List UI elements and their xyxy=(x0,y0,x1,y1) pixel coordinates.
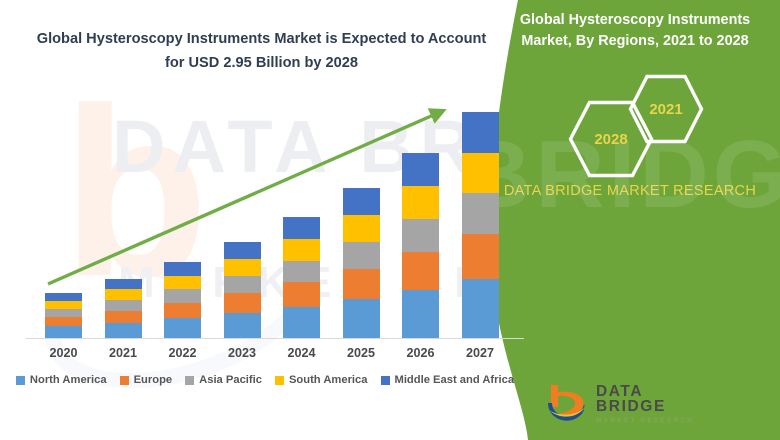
chart-legend: North AmericaEuropeAsia PacificSouth Ame… xyxy=(0,374,530,386)
legend-label: Middle East and Africa xyxy=(395,374,515,386)
logo-subtitle: MARKET RESEARCH xyxy=(596,418,705,424)
legend-swatch-icon xyxy=(120,376,129,385)
panel-title: Global Hysteroscopy Instruments Market, … xyxy=(504,10,766,52)
infographic-root: b DATA BRIDGE MARKET RESEARCH Global Hys… xyxy=(0,0,780,440)
logo-text: DATA BRIDGE MARKET RESEARCH xyxy=(596,384,705,424)
logo-mark-icon xyxy=(545,383,589,425)
hexagon-2028-label: 2028 xyxy=(594,131,627,148)
legend-label: North America xyxy=(30,374,107,386)
data-bridge-logo: DATA BRIDGE MARKET RESEARCH xyxy=(545,380,705,428)
legend-item-south-america[interactable]: South America xyxy=(275,374,368,386)
chart-area: Global Hysteroscopy Instruments Market i… xyxy=(0,0,530,440)
legend-swatch-icon xyxy=(16,376,25,385)
legend-item-middle-east-and-africa[interactable]: Middle East and Africa xyxy=(381,374,515,386)
legend-item-north-america[interactable]: North America xyxy=(16,374,107,386)
logo-name: DATA BRIDGE xyxy=(596,384,705,415)
logo-b-icon xyxy=(545,383,589,425)
chart-title: Global Hysteroscopy Instruments Market i… xyxy=(34,27,489,75)
legend-label: Asia Pacific xyxy=(199,374,262,386)
hexagon-2021-label: 2021 xyxy=(649,101,682,118)
legend-swatch-icon xyxy=(381,376,390,385)
legend-swatch-icon xyxy=(275,376,284,385)
legend-label: South America xyxy=(289,374,368,386)
legend-label: Europe xyxy=(134,374,173,386)
legend-item-asia-pacific[interactable]: Asia Pacific xyxy=(185,374,262,386)
legend-item-europe[interactable]: Europe xyxy=(120,374,173,386)
legend-swatch-icon xyxy=(185,376,194,385)
